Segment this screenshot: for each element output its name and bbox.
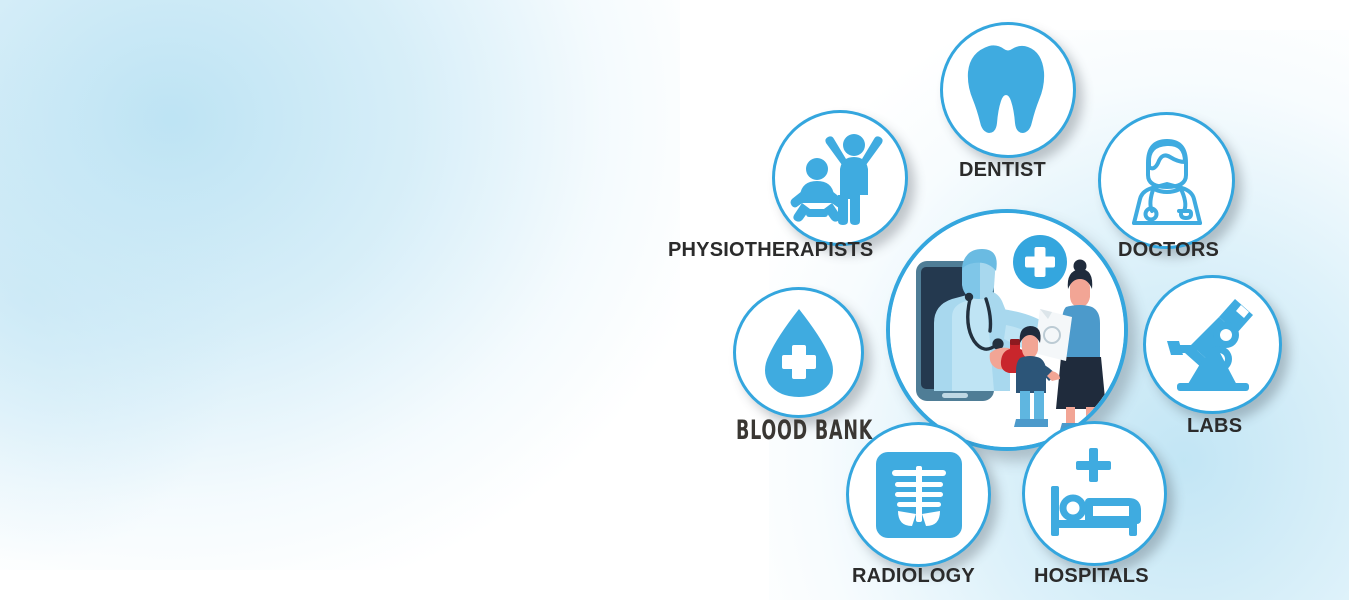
blood-bank-label: BLOOD BANK — [736, 417, 873, 444]
physiotherapy-figures-icon — [790, 129, 890, 227]
background-gradient-leftedge — [0, 40, 240, 560]
blood-drop-cross-icon — [759, 307, 839, 399]
central-hub-telemedicine[interactable] — [886, 209, 1128, 451]
hospitals-label: HOSPITALS — [1034, 566, 1149, 586]
telemedicine-illustration — [890, 213, 1124, 447]
dentist-bubble[interactable] — [940, 22, 1076, 158]
tooth-icon — [966, 44, 1050, 136]
physiotherapists-label: PHYSIOTHERAPISTS — [668, 240, 873, 260]
labs-bubble[interactable] — [1143, 275, 1282, 414]
background-gradient-topleft — [0, 0, 680, 570]
radiology-label: RADIOLOGY — [852, 566, 975, 586]
doctors-label: DOCTORS — [1118, 240, 1219, 260]
hospitals-bubble[interactable] — [1022, 421, 1167, 566]
healthcare-services-infographic: DENTIST PHYSIOTHE — [0, 0, 1349, 600]
doctor-bust-stethoscope-icon — [1118, 133, 1216, 229]
physiotherapists-bubble[interactable] — [772, 110, 908, 246]
xray-ribcage-icon — [876, 452, 962, 538]
blood-bank-bubble[interactable] — [733, 287, 864, 418]
labs-label: LABS — [1187, 416, 1242, 436]
microscope-icon — [1163, 297, 1263, 393]
doctors-bubble[interactable] — [1098, 112, 1235, 249]
dentist-label: DENTIST — [959, 160, 1046, 180]
hospital-bed-plus-icon — [1045, 446, 1145, 542]
radiology-bubble[interactable] — [846, 422, 991, 567]
